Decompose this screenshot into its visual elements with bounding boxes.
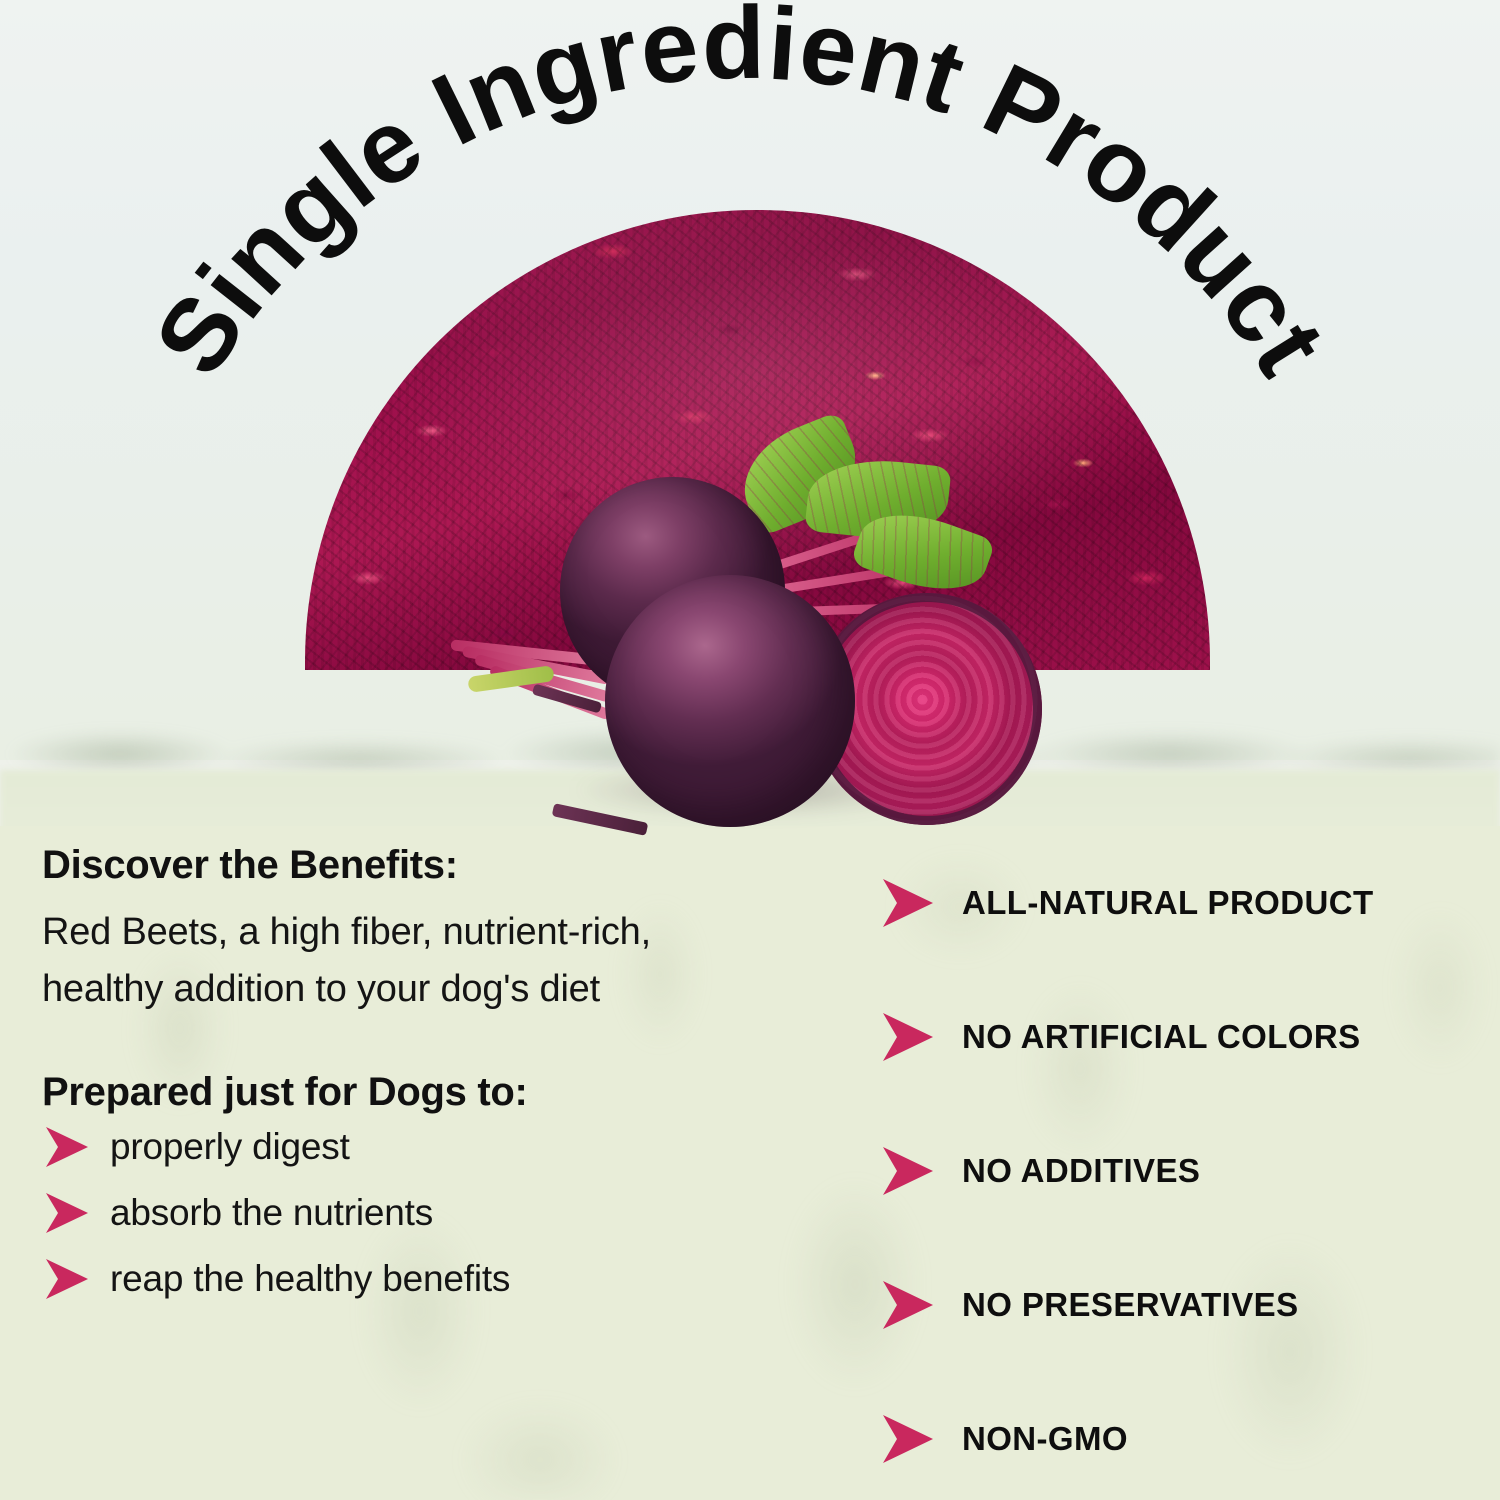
feature-label: ALL-NATURAL PRODUCT	[962, 884, 1374, 922]
arrow-right-icon	[880, 1010, 936, 1064]
arrow-right-icon	[880, 1144, 936, 1198]
fresh-beets-image	[440, 425, 1080, 850]
feature-label: NO ARTIFICIAL COLORS	[962, 1018, 1361, 1056]
arrow-right-icon	[880, 1278, 936, 1332]
feature-label: NO ADDITIVES	[962, 1152, 1200, 1190]
arrow-right-icon	[44, 1257, 90, 1301]
list-item: NO ARTIFICIAL COLORS	[880, 970, 1480, 1104]
arrow-right-icon	[44, 1191, 90, 1235]
list-item: reap the healthy benefits	[44, 1257, 762, 1301]
arrow-right-icon	[880, 1412, 936, 1466]
benefits-column: Discover the Benefits: Red Beets, a high…	[42, 840, 762, 1301]
feature-label: NO PRESERVATIVES	[962, 1286, 1298, 1324]
arrow-right-icon	[880, 876, 936, 930]
arrow-right-icon	[44, 1125, 90, 1169]
prepared-item-label: absorb the nutrients	[110, 1192, 433, 1234]
list-item: NON-GMO	[880, 1372, 1480, 1500]
benefits-heading: Discover the Benefits:	[42, 840, 762, 890]
prepared-list: properly digest absorb the nutrients rea…	[42, 1125, 762, 1301]
beet-stalks-left	[440, 650, 610, 740]
prepared-heading: Prepared just for Dogs to:	[42, 1070, 762, 1115]
feature-label: NON-GMO	[962, 1420, 1128, 1458]
prepared-item-label: properly digest	[110, 1126, 350, 1168]
list-item: properly digest	[44, 1125, 762, 1169]
list-item: absorb the nutrients	[44, 1191, 762, 1235]
product-infographic: Single Ingredient Product	[0, 0, 1500, 1500]
whole-beet-front	[605, 575, 855, 827]
list-item: NO ADDITIVES	[880, 1104, 1480, 1238]
list-item: ALL-NATURAL PRODUCT	[880, 836, 1480, 970]
features-column: ALL-NATURAL PRODUCT NO ARTIFICIAL COLORS…	[880, 836, 1480, 1500]
list-item: NO PRESERVATIVES	[880, 1238, 1480, 1372]
prepared-item-label: reap the healthy benefits	[110, 1258, 510, 1300]
benefits-description: Red Beets, a high fiber, nutrient-rich, …	[42, 904, 762, 1018]
